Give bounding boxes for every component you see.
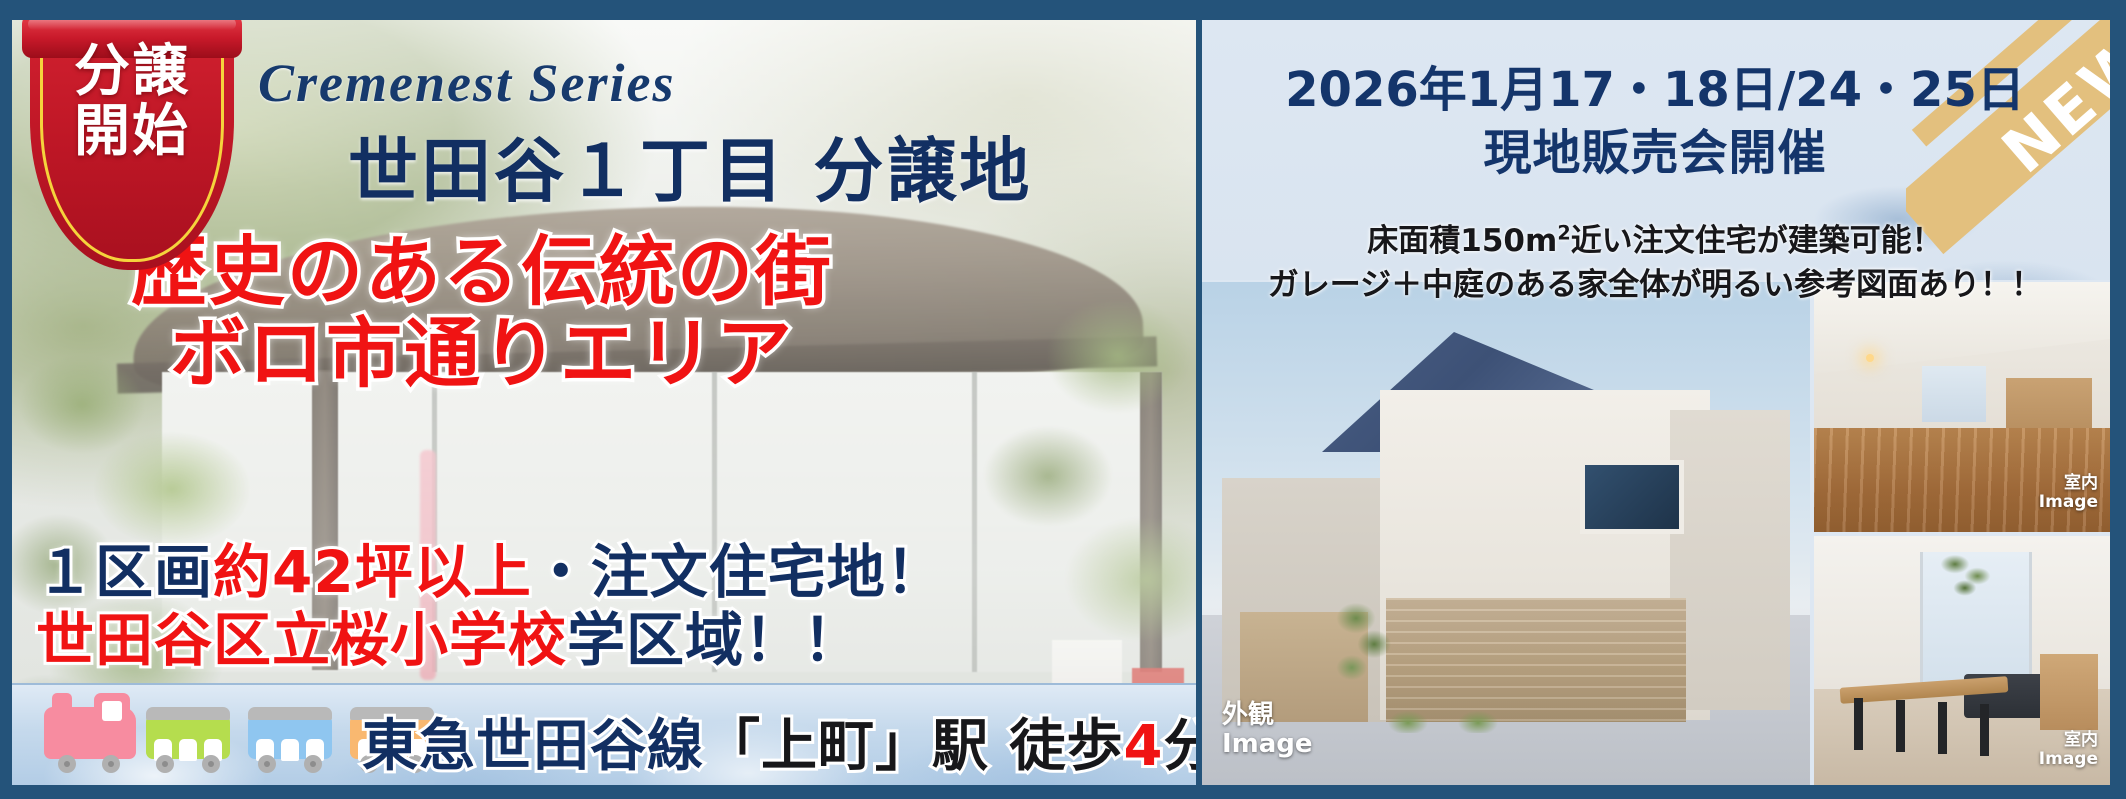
frame-left	[0, 0, 12, 799]
frame-bottom	[0, 785, 2126, 799]
interior-lower-plant	[1934, 548, 2004, 602]
car-window	[179, 739, 197, 761]
locomotive-window	[102, 701, 122, 721]
interior-lower-image: 室内 Image	[1814, 536, 2110, 785]
walk-minutes-unit: 分	[1163, 714, 1200, 779]
train-wheel	[202, 755, 220, 773]
school-district-line: 世田谷区立桜小学校学区域！！	[36, 593, 862, 677]
train-wheel	[156, 755, 174, 773]
walk-minutes: 4	[1124, 714, 1164, 779]
railway-line-name: 東急世田谷線	[362, 714, 704, 779]
interior-upper-image-label: 室内 Image	[2039, 474, 2098, 512]
train-wheel	[258, 755, 276, 773]
exterior-label-line1: 外観	[1222, 701, 1313, 730]
interior-upper-label-line1: 室内	[2039, 474, 2098, 493]
train-wheel	[102, 755, 120, 773]
frame-top	[0, 0, 2126, 20]
status-badge: 分譲 開始	[22, 8, 242, 276]
train-car-green	[146, 715, 230, 759]
locomotive-shape	[44, 707, 136, 759]
interior-upper-image: 室内 Image	[1814, 282, 2110, 532]
car-window	[281, 739, 299, 761]
exterior-shrub	[1380, 699, 1436, 733]
dining-chair	[1854, 698, 1863, 750]
dining-chair	[1896, 700, 1905, 752]
frame-right	[2110, 0, 2126, 799]
interior-lower-cabinet	[2040, 654, 2098, 730]
series-title: Cremenest Series	[258, 52, 676, 114]
feature-1-pre: 床面積150m	[1367, 223, 1557, 259]
interior-lower-label-line2: Image	[2039, 750, 2098, 769]
feature-1-post: 近い注文住宅が建築可能！	[1571, 223, 1943, 259]
train-wheel	[304, 755, 322, 773]
headline-secondary: ボロ市通りエリア	[12, 292, 952, 402]
locomotive-chimney	[52, 693, 72, 713]
station-name: 「上町」駅 徒歩	[704, 714, 1124, 779]
school-name: 世田谷区立桜小学校	[36, 606, 567, 674]
exterior-shrub	[1450, 699, 1506, 733]
station-access-bar: 東急世田谷線「上町」駅 徒歩4分	[12, 683, 1200, 785]
exterior-image: 外観 Image	[1200, 282, 1810, 785]
interior-upper-label-line2: Image	[2039, 493, 2098, 512]
right-info-panel: 2026年1月17・18日/24・25日 現地販売会開催 床面積150m2近い注…	[1200, 20, 2110, 785]
real-estate-banner: Cremenest Series 世田谷１丁目 分譲地 歴史のある伝統の街 ボロ…	[0, 0, 2126, 799]
exterior-label-line2: Image	[1222, 730, 1313, 759]
interior-lower-image-label: 室内 Image	[2039, 731, 2098, 769]
exterior-image-label: 外観 Image	[1222, 701, 1313, 759]
car-roof	[146, 707, 230, 720]
page-title: 世田谷１丁目 分譲地	[348, 115, 1032, 216]
badge-label-line1: 分譲	[22, 42, 242, 102]
interior-lower-label-line1: 室内	[2039, 731, 2098, 750]
interior-upper-window	[1922, 366, 1986, 422]
exterior-side-wall	[1670, 410, 1790, 710]
feature-line-2: ガレージ＋中庭のある家全体が明るい参考図面あり！！	[1200, 259, 2110, 304]
station-access-text: 東急世田谷線「上町」駅 徒歩4分	[362, 701, 1200, 782]
badge-label: 分譲 開始	[22, 42, 242, 163]
badge-label-line2: 開始	[22, 102, 242, 162]
interior-upper-light	[1866, 354, 1874, 362]
train-wheel	[58, 755, 76, 773]
feature-line-1: 床面積150m2近い注文住宅が建築可能！	[1200, 215, 2110, 260]
feature-1-superscript: 2	[1557, 222, 1570, 245]
event-name: 現地販売会開催	[1200, 113, 2110, 183]
dining-chair	[1938, 702, 1947, 754]
exterior-window	[1580, 460, 1684, 534]
dining-chair	[1980, 704, 1989, 756]
event-date: 2026年1月17・18日/24・25日	[1200, 50, 2110, 120]
car-roof	[248, 707, 332, 720]
panel-divider	[1196, 20, 1202, 785]
train-car-blue	[248, 715, 332, 759]
school-district-suffix: 学区域！！	[567, 606, 862, 674]
